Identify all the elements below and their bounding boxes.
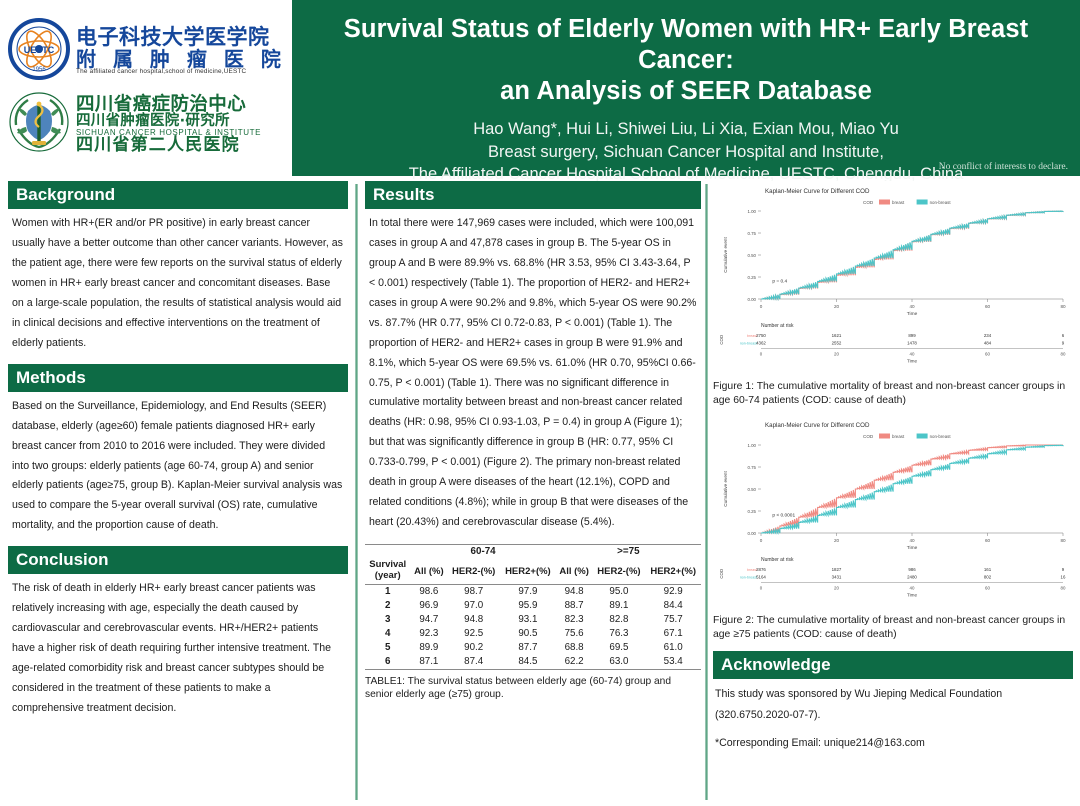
- svg-text:60: 60: [985, 304, 991, 309]
- section-body-methods: Based on the Surveillance, Epidemiology,…: [8, 392, 348, 540]
- title-line-1: Survival Status of Elderly Women with HR…: [310, 14, 1062, 76]
- table-row: 4 92.3 92.5 90.5 75.6 76.3 67.1: [365, 627, 701, 641]
- svg-text:1827: 1827: [832, 567, 842, 572]
- acknowledge-sponsor-text: This study was sponsored by Wu Jieping M…: [715, 684, 1071, 725]
- cell-value: 95.0: [593, 584, 646, 599]
- section-heading-methods: Methods: [8, 364, 348, 392]
- cell-value: 90.5: [500, 627, 556, 641]
- cell-value: 98.7: [447, 584, 500, 599]
- svg-text:9: 9: [1062, 567, 1065, 572]
- group-header-60-74: 60-74: [410, 544, 555, 559]
- cell-value: 89.1: [593, 599, 646, 613]
- sichuan-cn-line1: 四川省癌症防治中心: [76, 95, 261, 114]
- svg-text:40: 40: [909, 304, 915, 309]
- cell-value: 90.2: [447, 641, 500, 655]
- svg-text:4362: 4362: [756, 341, 766, 346]
- svg-text:Cumulative event: Cumulative event: [723, 237, 728, 273]
- cell-value: 76.3: [593, 627, 646, 641]
- column-header-her2neg-a: HER2-(%): [447, 559, 500, 584]
- svg-text:2750: 2750: [756, 333, 766, 338]
- svg-text:986: 986: [908, 567, 916, 572]
- column-header-all-a: All (%): [410, 559, 447, 584]
- svg-text:234: 234: [984, 333, 992, 338]
- svg-text:80: 80: [1060, 538, 1066, 543]
- section-body-results: In total there were 147,969 cases were i…: [365, 209, 701, 537]
- svg-text:breast: breast: [892, 200, 905, 205]
- column-divider-left: [355, 184, 358, 800]
- table-caption: TABLE1: The survival status between elde…: [365, 675, 701, 703]
- svg-text:2552: 2552: [832, 341, 842, 346]
- table-group-header-row: 60-74 >=75: [365, 544, 701, 559]
- svg-text:0: 0: [760, 586, 763, 591]
- svg-text:3431: 3431: [832, 575, 842, 580]
- cell-value: 94.8: [447, 613, 500, 627]
- uestc-cn-line1-suffix: 医学院: [205, 25, 270, 49]
- svg-text:20: 20: [834, 352, 839, 357]
- cell-value: 63.0: [593, 655, 646, 670]
- logo-zone: UESTC 1956 电子科技大学医学院 附 属 肿 瘤 医 院 The aff…: [0, 0, 292, 176]
- svg-text:1478: 1478: [907, 341, 917, 346]
- cell-value: 87.1: [410, 655, 447, 670]
- svg-text:484: 484: [984, 341, 992, 346]
- svg-text:0.75: 0.75: [747, 465, 756, 470]
- svg-text:COD: COD: [863, 200, 874, 205]
- title-banner: Survival Status of Elderly Women with HR…: [292, 0, 1080, 176]
- cell-value: 92.9: [645, 584, 701, 599]
- svg-text:0: 0: [760, 352, 763, 357]
- cell-value: 93.1: [500, 613, 556, 627]
- cell-value: 75.7: [645, 613, 701, 627]
- table-column-header-row: Survival (year) All (%) HER2-(%) HER2+(%…: [365, 559, 701, 584]
- cell-value: 61.0: [645, 641, 701, 655]
- svg-text:80: 80: [1060, 304, 1066, 309]
- svg-text:40: 40: [909, 538, 915, 543]
- cell-value: 87.7: [500, 641, 556, 655]
- cell-value: 95.9: [500, 599, 556, 613]
- cell-value: 94.7: [410, 613, 447, 627]
- svg-text:9: 9: [1062, 341, 1065, 346]
- author-block: Hao Wang*, Hui Li, Shiwei Liu, Li Xia, E…: [310, 118, 1062, 185]
- svg-text:Time: Time: [907, 545, 918, 551]
- column-divider-right: [705, 184, 708, 800]
- svg-text:80: 80: [1061, 586, 1066, 591]
- svg-text:COD: COD: [719, 335, 724, 345]
- cell-year: 6: [365, 655, 410, 670]
- uestc-logo-text: 电子科技大学医学院 附 属 肿 瘤 医 院 The affiliated can…: [76, 27, 286, 76]
- svg-text:0.50: 0.50: [747, 253, 756, 258]
- cell-value: 67.1: [645, 627, 701, 641]
- survival-table: 60-74 >=75 Survival (year) All (%) HER2-…: [365, 544, 701, 670]
- svg-text:2480: 2480: [907, 575, 917, 580]
- svg-text:Kaplan-Meier Curve for Differe: Kaplan-Meier Curve for Different COD: [765, 422, 870, 429]
- figure-2-svg: Kaplan-Meier Curve for Different CODCODb…: [713, 415, 1071, 611]
- right-column: Kaplan-Meier Curve for Different CODCODb…: [713, 181, 1073, 803]
- svg-text:1956: 1956: [32, 67, 46, 73]
- cell-value: 69.5: [593, 641, 646, 655]
- svg-text:0.00: 0.00: [747, 297, 756, 302]
- svg-text:0.75: 0.75: [747, 231, 756, 236]
- sichuan-logo-text: 四川省癌症防治中心 四川省肿瘤医院·研究所 SICHUAN CANCER HOS…: [76, 95, 261, 155]
- column-header-her2pos-a: HER2+(%): [500, 559, 556, 584]
- column-header-her2neg-b: HER2-(%): [593, 559, 646, 584]
- table-row: 3 94.7 94.8 93.1 82.3 82.8 75.7: [365, 613, 701, 627]
- no-conflict-note: No conflict of interests to declare.: [939, 162, 1068, 172]
- svg-text:80: 80: [1061, 352, 1066, 357]
- cell-value: 75.6: [556, 627, 593, 641]
- cell-value: 97.9: [500, 584, 556, 599]
- figure-2-plot: Kaplan-Meier Curve for Different CODCODb…: [713, 415, 1071, 611]
- svg-text:non-breast: non-breast: [930, 434, 952, 439]
- cell-year: 3: [365, 613, 410, 627]
- table-row: 1 98.6 98.7 97.9 94.8 95.0 92.9: [365, 584, 701, 599]
- survival-table-wrap: 60-74 >=75 Survival (year) All (%) HER2-…: [365, 544, 701, 702]
- logo-uestc: UESTC 1956 电子科技大学医学院 附 属 肿 瘤 医 院 The aff…: [0, 18, 292, 85]
- table-row: 2 96.9 97.0 95.9 88.7 89.1 84.4: [365, 599, 701, 613]
- poster-header: UESTC 1956 电子科技大学医学院 附 属 肿 瘤 医 院 The aff…: [0, 0, 1080, 176]
- svg-text:2876: 2876: [756, 567, 766, 572]
- sichuan-cancer-emblem-icon: [8, 91, 70, 158]
- affiliation-line-1: Breast surgery, Sichuan Cancer Hospital …: [310, 141, 1062, 163]
- svg-text:p = 0.4: p = 0.4: [772, 278, 787, 284]
- svg-text:6: 6: [1062, 333, 1065, 338]
- svg-text:802: 802: [984, 575, 992, 580]
- cell-value: 53.4: [645, 655, 701, 670]
- cell-value: 92.3: [410, 627, 447, 641]
- cell-year: 5: [365, 641, 410, 655]
- svg-text:40: 40: [910, 352, 915, 357]
- svg-text:Time: Time: [907, 311, 918, 317]
- poster-canvas: UESTC 1956 电子科技大学医学院 附 属 肿 瘤 医 院 The aff…: [0, 0, 1080, 806]
- cell-value: 98.6: [410, 584, 447, 599]
- figure-1-caption: Figure 1: The cumulative mortality of br…: [713, 380, 1073, 408]
- group-header-blank: [365, 544, 410, 559]
- figure-2-caption: Figure 2: The cumulative mortality of br…: [713, 614, 1073, 642]
- svg-text:Kaplan-Meier Curve for Differe: Kaplan-Meier Curve for Different COD: [765, 188, 870, 195]
- svg-text:1.00: 1.00: [747, 443, 756, 448]
- section-heading-conclusion: Conclusion: [8, 546, 348, 574]
- section-heading-results: Results: [365, 181, 701, 209]
- svg-text:40: 40: [910, 586, 915, 591]
- cell-year: 4: [365, 627, 410, 641]
- svg-text:UESTC: UESTC: [24, 45, 55, 55]
- section-body-acknowledge: This study was sponsored by Wu Jieping M…: [713, 679, 1073, 753]
- svg-text:0.25: 0.25: [747, 275, 756, 280]
- svg-text:0: 0: [760, 304, 763, 309]
- cell-value: 82.8: [593, 613, 646, 627]
- cell-value: 96.9: [410, 599, 447, 613]
- cell-value: 88.7: [556, 599, 593, 613]
- svg-text:60: 60: [985, 352, 990, 357]
- svg-text:0.50: 0.50: [747, 487, 756, 492]
- svg-text:0.25: 0.25: [747, 509, 756, 514]
- svg-text:1.00: 1.00: [747, 209, 756, 214]
- left-column: Background Women with HR+(ER and/or PR p…: [8, 181, 348, 803]
- svg-text:161: 161: [984, 567, 992, 572]
- svg-text:Time: Time: [907, 359, 917, 364]
- cell-value: 84.4: [645, 599, 701, 613]
- cell-value: 94.8: [556, 584, 593, 599]
- svg-text:non-breast: non-breast: [740, 576, 757, 580]
- figure-1-plot: Kaplan-Meier Curve for Different CODCODb…: [713, 181, 1071, 377]
- svg-text:5164: 5164: [756, 575, 766, 580]
- svg-text:Cumulative event: Cumulative event: [723, 471, 728, 507]
- authors-line: Hao Wang*, Hui Li, Shiwei Liu, Li Xia, E…: [310, 118, 1062, 140]
- group-header-75plus: >=75: [556, 544, 701, 559]
- uestc-cn-line1: 电子科技大学: [76, 25, 205, 49]
- svg-text:non-breast: non-breast: [740, 342, 757, 346]
- svg-text:20: 20: [834, 538, 840, 543]
- poster-title: Survival Status of Elderly Women with HR…: [310, 14, 1062, 107]
- svg-text:Number at risk: Number at risk: [761, 557, 794, 563]
- uestc-emblem-icon: UESTC 1956: [8, 18, 70, 85]
- svg-text:COD: COD: [863, 434, 874, 439]
- table-row: 6 87.1 87.4 84.5 62.2 63.0 53.4: [365, 655, 701, 670]
- uestc-en-line: The affiliated cancer hospital,school of…: [76, 69, 286, 76]
- section-body-background: Women with HR+(ER and/or PR positive) in…: [8, 209, 348, 357]
- svg-text:COD: COD: [719, 569, 724, 579]
- svg-text:Time: Time: [907, 593, 917, 598]
- middle-column: Results In total there were 147,969 case…: [365, 181, 701, 803]
- uestc-cn-line2: 附 属 肿 瘤 医 院: [76, 49, 286, 70]
- cell-value: 87.4: [447, 655, 500, 670]
- svg-text:0.00: 0.00: [747, 531, 756, 536]
- corresponding-email-text: *Corresponding Email: unique214@163.com: [715, 733, 1071, 754]
- cell-value: 92.5: [447, 627, 500, 641]
- sichuan-cn-line3: 四川省第二人民医院: [76, 137, 261, 155]
- column-header-survival-year: Survival (year): [365, 559, 410, 584]
- cell-value: 97.0: [447, 599, 500, 613]
- figure-1-svg: Kaplan-Meier Curve for Different CODCODb…: [713, 181, 1071, 377]
- svg-text:1621: 1621: [832, 333, 842, 338]
- svg-text:16: 16: [1061, 575, 1066, 580]
- cell-year: 1: [365, 584, 410, 599]
- logo-sichuan: 四川省癌症防治中心 四川省肿瘤医院·研究所 SICHUAN CANCER HOS…: [0, 91, 292, 158]
- svg-text:60: 60: [985, 538, 991, 543]
- svg-text:0: 0: [760, 538, 763, 543]
- cell-value: 82.3: [556, 613, 593, 627]
- svg-text:non-breast: non-breast: [930, 200, 952, 205]
- svg-text:899: 899: [908, 333, 916, 338]
- cell-value: 84.5: [500, 655, 556, 670]
- section-body-conclusion: The risk of death in elderly HR+ early b…: [8, 574, 348, 722]
- svg-text:p < 0.0001: p < 0.0001: [772, 512, 795, 518]
- svg-text:breast: breast: [892, 434, 905, 439]
- section-heading-acknowledge: Acknowledge: [713, 651, 1073, 679]
- cell-value: 89.9: [410, 641, 447, 655]
- column-header-all-b: All (%): [556, 559, 593, 584]
- column-header-her2pos-b: HER2+(%): [645, 559, 701, 584]
- table-row: 5 89.9 90.2 87.7 68.8 69.5 61.0: [365, 641, 701, 655]
- svg-text:60: 60: [985, 586, 990, 591]
- cell-value: 68.8: [556, 641, 593, 655]
- title-line-2: an Analysis of SEER Database: [310, 76, 1062, 107]
- svg-text:20: 20: [834, 304, 840, 309]
- section-heading-background: Background: [8, 181, 348, 209]
- cell-value: 62.2: [556, 655, 593, 670]
- svg-text:Number at risk: Number at risk: [761, 323, 794, 329]
- sichuan-cn-line2: 四川省肿瘤医院·研究所: [76, 114, 261, 129]
- cell-year: 2: [365, 599, 410, 613]
- svg-text:20: 20: [834, 586, 839, 591]
